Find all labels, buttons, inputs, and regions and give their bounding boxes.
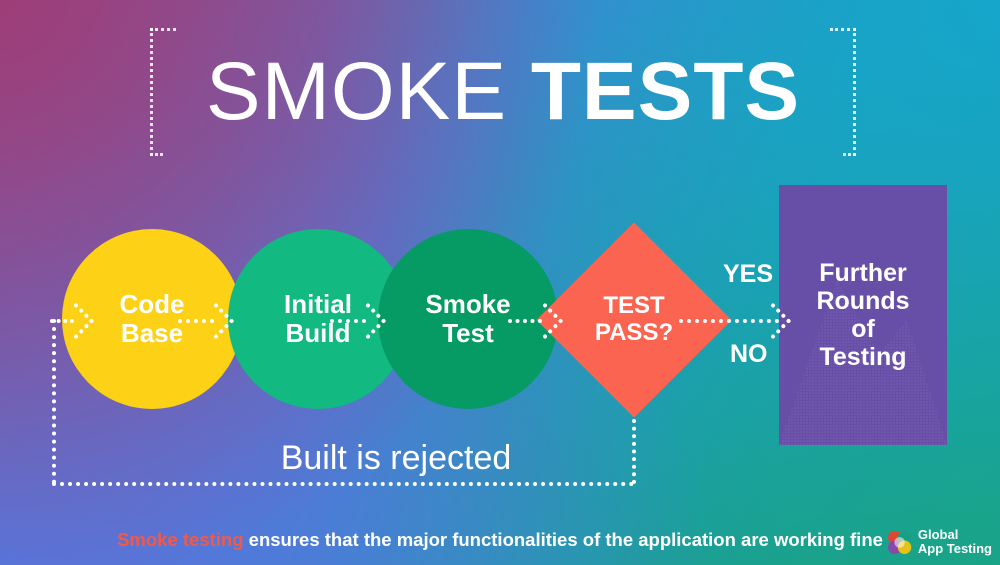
caption-text: Smoke testing ensures that the major fun… xyxy=(117,529,883,551)
branch-label-yes: YES xyxy=(723,260,773,289)
flow-node-test-pass-label: TESTPASS? xyxy=(595,293,673,347)
flow-node-smoke-test-label: SmokeTest xyxy=(425,290,510,348)
caption-highlight: Smoke testing xyxy=(117,529,243,550)
logo-text: Global App Testing xyxy=(918,528,992,555)
title-word-smoke: SMOKE xyxy=(206,46,507,137)
caption-bar: Smoke testing ensures that the major fun… xyxy=(0,515,1000,565)
reject-loop-label: Built is rejected xyxy=(206,439,586,478)
caption-rest: ensures that the major functionalities o… xyxy=(244,529,883,550)
flow-node-further-rounds-label: FurtherRoundsofTesting xyxy=(816,259,909,371)
reject-loop-segment-left xyxy=(52,319,56,484)
reject-loop-segment-bottom xyxy=(52,482,634,486)
flow-node-code-base-label: CodeBase xyxy=(120,290,185,348)
flow-node-further-rounds[interactable]: FurtherRoundsofTesting xyxy=(779,185,947,445)
page-title: SMOKE TESTS xyxy=(150,51,856,133)
logo-line-1: Global xyxy=(918,528,992,542)
branch-label-no: NO xyxy=(730,340,768,369)
logo-line-2: App Testing xyxy=(918,542,992,556)
title-block: SMOKE TESTS xyxy=(150,28,856,156)
title-word-tests: TESTS xyxy=(531,46,800,137)
reject-loop-segment-right xyxy=(632,419,636,484)
smoke-tests-infographic: SMOKE TESTS CodeBase InitialBuild SmokeT… xyxy=(0,0,1000,565)
global-app-testing-logo-icon xyxy=(885,527,915,557)
logo[interactable]: Global App Testing xyxy=(885,527,992,557)
